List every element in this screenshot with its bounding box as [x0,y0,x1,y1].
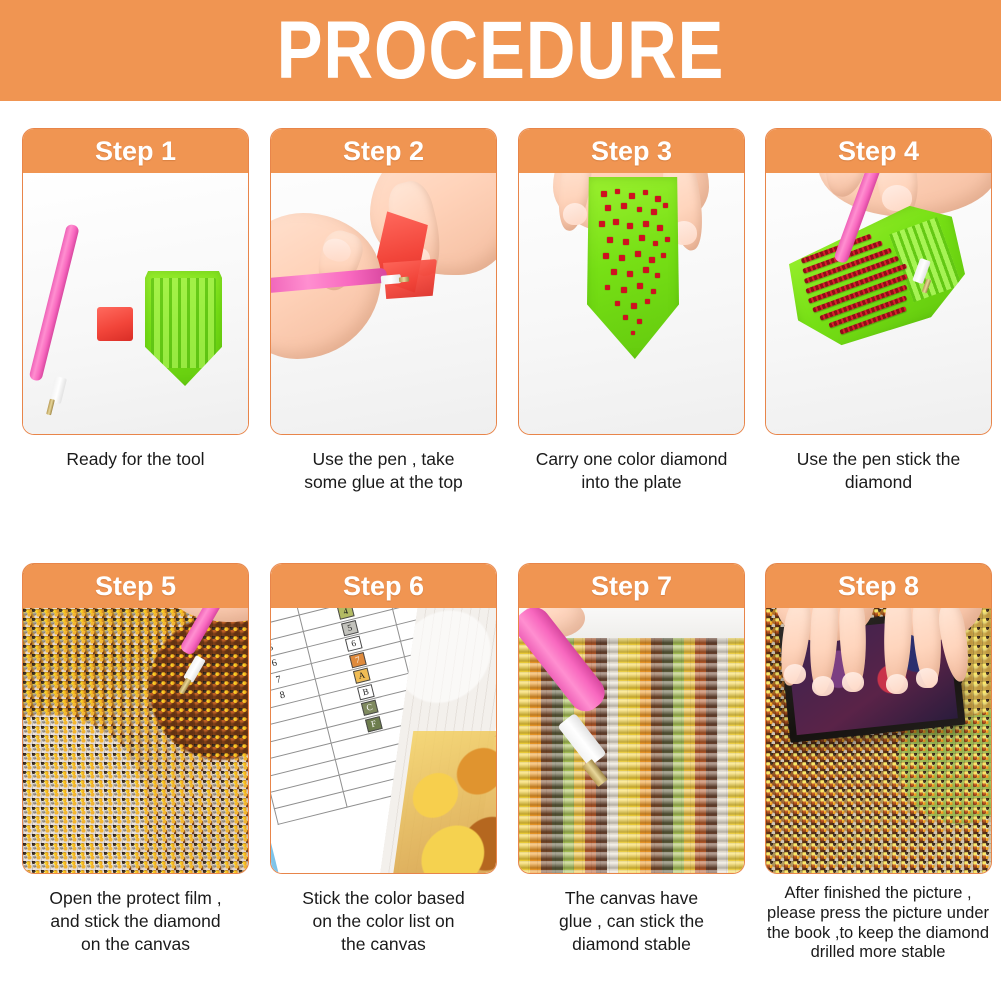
step-photo-7 [519,564,744,873]
steps-row-bottom: Step 5 Open the protect film , and stick… [0,563,1001,993]
step-caption-7: The canvas have glue , can stick the dia… [518,887,745,955]
step-header-label-8: Step 8 [838,573,919,600]
step-photo-5 [23,564,248,873]
fingernail-icon [842,672,864,692]
step-header-3: Step 3 [519,129,744,173]
red-diamond-rows-icon [787,201,974,355]
pen-needle-icon [399,277,409,283]
fingernail-icon [784,664,806,684]
step-photo-6: Serial Symbol DMC 11 22300 33307 44310 5… [271,564,496,873]
step-photo-2 [271,129,496,434]
step-cell-4: Step 4 [765,128,992,494]
step-header-label-2: Step 2 [343,138,424,165]
fingernail-icon [812,676,834,696]
step-caption-5: Open the protect film , and stick the di… [22,887,249,955]
fingernail-icon [886,674,908,694]
steps-grid: Step 1 [0,101,1001,1001]
step-header-label-7: Step 7 [591,573,672,600]
step-header-2: Step 2 [271,129,496,173]
step-header-6: Step 6 [271,564,496,608]
step-cell-8: Step 8 After finished the picture , plea… [765,563,992,963]
step-header-8: Step 8 [766,564,991,608]
step-cell-2: Step 2 [270,128,497,494]
step-card-7[interactable]: Step 7 [518,563,745,874]
step-header-label-4: Step 4 [838,138,919,165]
step-header-1: Step 1 [23,129,248,173]
step-header-label-5: Step 5 [95,573,176,600]
step-card-3[interactable]: Step 3 [518,128,745,435]
step-header-label-1: Step 1 [95,138,176,165]
fingernail-icon [563,203,587,225]
glue-block-icon [97,307,133,341]
step-card-5[interactable]: Step 5 [22,563,249,874]
step-photo-3 [519,129,744,434]
step-header-5: Step 5 [23,564,248,608]
step-caption-3: Carry one color diamond into the plate [518,448,745,494]
step-cell-3: Step 3 [518,128,745,494]
step-photo-8 [766,564,991,873]
page-header-banner: PROCEDURE [0,0,1001,101]
step-caption-2: Use the pen , take some glue at the top [270,448,497,494]
step-cell-5: Step 5 Open the protect film , and stick… [22,563,249,955]
step-card-2[interactable]: Step 2 [270,128,497,435]
red-diamonds-icon [593,187,675,347]
step-card-8[interactable]: Step 8 [765,563,992,874]
step-cell-6: Serial Symbol DMC 11 22300 33307 44310 5… [270,563,497,955]
step-header-label-3: Step 3 [591,138,672,165]
step-photo-4 [766,129,991,434]
step-card-6[interactable]: Serial Symbol DMC 11 22300 33307 44310 5… [270,563,497,874]
step-header-7: Step 7 [519,564,744,608]
step-header-4: Step 4 [766,129,991,173]
diamond-pen-icon [28,223,79,381]
step-cell-1: Step 1 [22,128,249,471]
step-header-label-6: Step 6 [343,573,424,600]
step-caption-6: Stick the color based on the color list … [270,887,497,955]
fingernail-icon [916,668,938,688]
step-caption-4: Use the pen stick the diamond [765,448,992,494]
page-title: PROCEDURE [277,10,725,92]
pen-needle-icon [46,399,55,416]
step-photo-1 [23,173,248,434]
step-card-1[interactable]: Step 1 [22,128,249,435]
step-cell-7: Step 7 The canvas have glue , can stick … [518,563,745,955]
diamond-tray-icon [145,271,222,386]
steps-row-top: Step 1 [0,128,1001,548]
step-card-4[interactable]: Step 4 [765,128,992,435]
step-caption-1: Ready for the tool [22,448,249,471]
step-caption-8: After finished the picture , please pres… [758,884,998,963]
